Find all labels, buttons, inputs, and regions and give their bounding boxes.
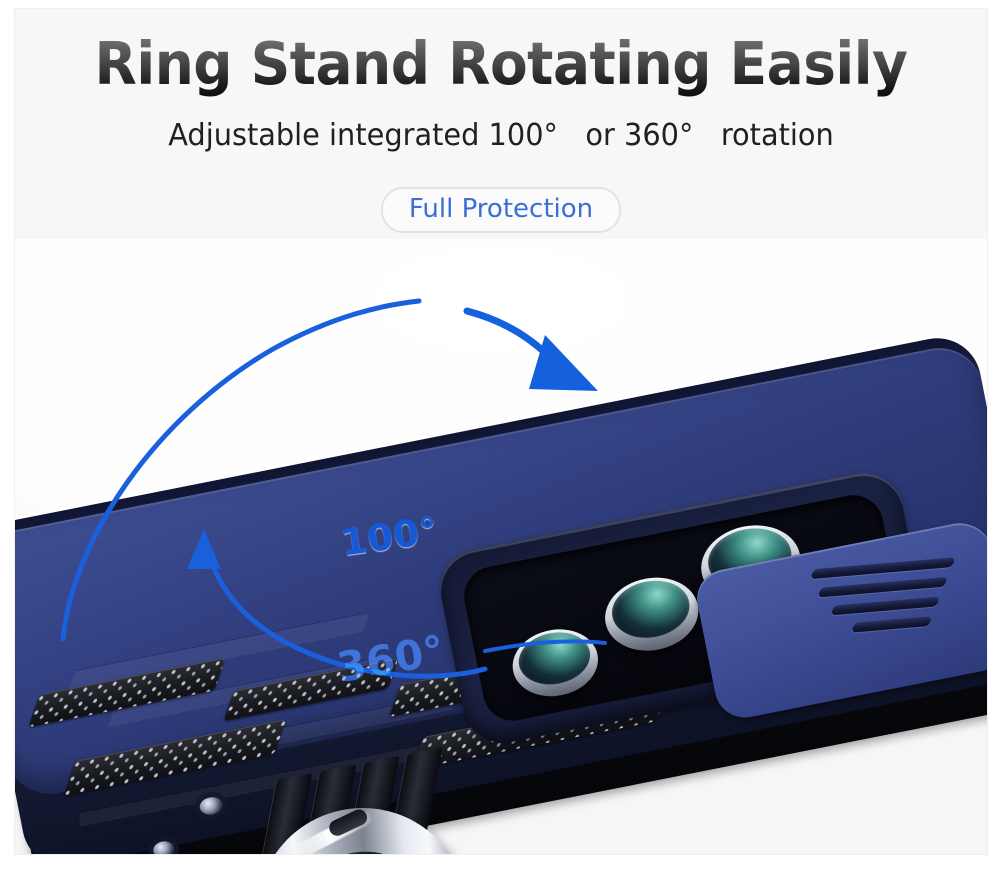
image-canvas: Ring Stand Rotating Easily Adjustable in… [14, 8, 988, 855]
page-title: Ring Stand Rotating Easily [49, 31, 953, 97]
slider-grip-ridges [789, 556, 968, 649]
badge-row: Full Protection [15, 187, 987, 233]
camera-lens [507, 622, 604, 703]
slider-ridge [851, 616, 932, 632]
slider-ridge [831, 597, 940, 616]
page-subtitle: Adjustable integrated 100° or 360° rotat… [34, 115, 967, 157]
product-photo: 100° 360° [15, 239, 987, 854]
status-badge: Full Protection [381, 187, 621, 233]
slider-ridge [810, 557, 955, 579]
product-marketing-image: Ring Stand Rotating Easily Adjustable in… [0, 0, 1000, 880]
camera-lens [599, 570, 705, 659]
slider-ridge [818, 577, 948, 598]
